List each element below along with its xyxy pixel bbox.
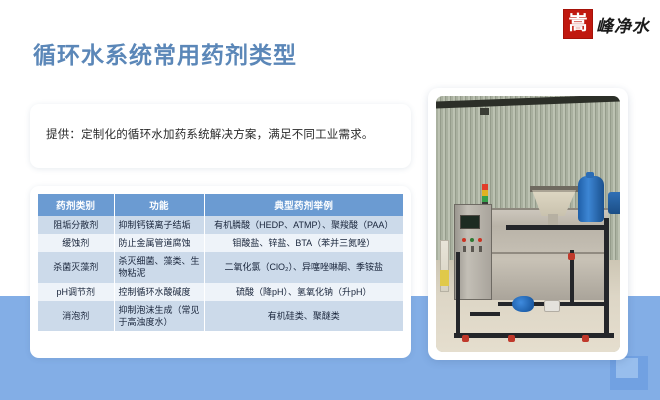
- cell-examples: 二氧化氯（ClO₂）、异噻唑啉酮、季铵盐: [204, 252, 403, 282]
- seal-stamp-icon: 嵩: [563, 9, 593, 39]
- cell-examples: 硫酸（降pH）、氢氧化钠（升pH）: [204, 283, 403, 301]
- description-text: 提供：定制化的循环水加药系统解决方案，满足不同工业需求。: [46, 127, 374, 144]
- photo-knob-3: [479, 246, 482, 252]
- column-header-function: 功能: [114, 194, 204, 216]
- page-title: 循环水系统常用药剂类型: [33, 36, 297, 70]
- chemical-table-card: 药剂类别 功能 典型药剂举例 阻垢分散剂 抑制钙镁离子结垢 有机膦酸（HEDP、…: [30, 186, 411, 358]
- decorative-square-inner: [616, 358, 638, 378]
- cell-category: 杀菌灭藻剂: [38, 252, 114, 282]
- column-header-examples: 典型药剂举例: [204, 194, 403, 216]
- photo-red-valve-1: [568, 253, 575, 260]
- equipment-photo-card: [428, 88, 628, 360]
- photo-wall-fixture: [480, 108, 489, 115]
- photo-gauge-label: [440, 270, 449, 286]
- table-row: 消泡剂 抑制泡沫生成（常见于高浊度水） 有机硅类、聚醚类: [38, 301, 403, 331]
- cell-function: 控制循环水酸碱度: [114, 283, 204, 301]
- cell-category: 阻垢分散剂: [38, 216, 114, 234]
- photo-tower-light: [482, 184, 488, 204]
- table-row: pH调节剂 控制循环水酸碱度 硫酸（降pH）、氢氧化钠（升pH）: [38, 283, 403, 301]
- cell-category: 消泡剂: [38, 301, 114, 331]
- photo-blue-pump: [512, 296, 534, 312]
- brand-wordmark: 峰净水: [596, 12, 650, 37]
- cell-category: 缓蚀剂: [38, 234, 114, 252]
- slide-root: 嵩 峰净水 循环水系统常用药剂类型 提供：定制化的循环水加药系统解决方案，满足不…: [0, 0, 660, 400]
- photo-red-valve-2: [462, 335, 469, 342]
- cell-examples: 有机膦酸（HEDP、ATMP）、聚羧酸（PAA）: [204, 216, 403, 234]
- photo-red-valve-3: [508, 335, 515, 342]
- photo-pipe-riser-2: [604, 218, 609, 338]
- photo-tower-light-green: [482, 196, 488, 202]
- cell-examples: 有机硅类、聚醚类: [204, 301, 403, 331]
- table-row: 杀菌灭藻剂 杀灭细菌、藻类、生物粘泥 二氧化氯（ClO₂）、异噻唑啉酮、季铵盐: [38, 252, 403, 282]
- photo-button-red2: [478, 238, 482, 242]
- table-row: 阻垢分散剂 抑制钙镁离子结垢 有机膦酸（HEDP、ATMP）、聚羧酸（PAA）: [38, 216, 403, 234]
- description-card: 提供：定制化的循环水加药系统解决方案，满足不同工业需求。: [30, 104, 411, 168]
- photo-hmi-screen: [460, 215, 480, 229]
- photo-motor: [608, 192, 620, 214]
- photo-pipe-upper: [506, 225, 604, 230]
- cell-function: 杀灭细菌、藻类、生物粘泥: [114, 252, 204, 282]
- photo-white-valve: [544, 300, 560, 312]
- equipment-photo: [436, 96, 620, 352]
- brand-logo: 嵩 峰净水: [563, 8, 650, 40]
- photo-button-green: [470, 238, 474, 242]
- table-row: 缓蚀剂 防止金属管道腐蚀 钼酸盐、锌盐、BTA（苯并三氮唑）: [38, 234, 403, 252]
- photo-button-red: [462, 238, 466, 242]
- photo-blue-vessel: [578, 176, 604, 222]
- table-header-row: 药剂类别 功能 典型药剂举例: [38, 194, 403, 216]
- photo-knob-1: [463, 246, 466, 252]
- photo-pipe-riser-3: [456, 252, 460, 338]
- cell-category: pH调节剂: [38, 283, 114, 301]
- cell-function: 防止金属管道腐蚀: [114, 234, 204, 252]
- photo-tank-seam: [472, 252, 608, 254]
- photo-pipe-cabinet: [470, 312, 500, 316]
- column-header-category: 药剂类别: [38, 194, 114, 216]
- cell-function: 抑制钙镁离子结垢: [114, 216, 204, 234]
- photo-vessel-cap: [586, 172, 594, 178]
- photo-red-valve-4: [582, 335, 589, 342]
- photo-pipe-base: [454, 333, 614, 338]
- photo-knob-2: [471, 246, 474, 252]
- cell-function: 抑制泡沫生成（常见于高浊度水）: [114, 301, 204, 331]
- cell-examples: 钼酸盐、锌盐、BTA（苯并三氮唑）: [204, 234, 403, 252]
- chemical-table: 药剂类别 功能 典型药剂举例 阻垢分散剂 抑制钙镁离子结垢 有机膦酸（HEDP、…: [38, 194, 403, 331]
- photo-wall-beam: [436, 96, 620, 109]
